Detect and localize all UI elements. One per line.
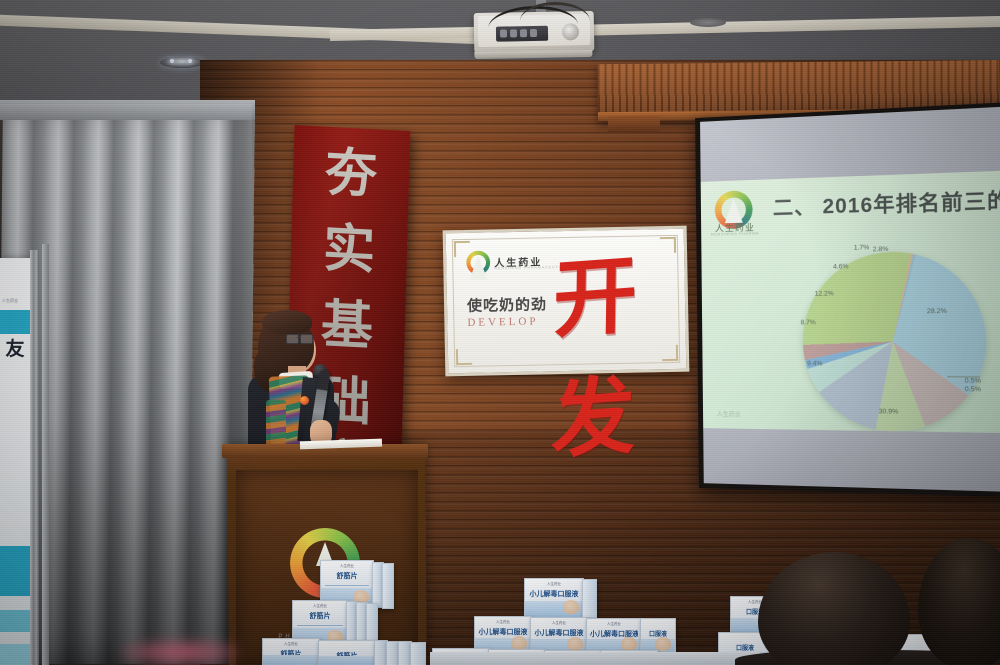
product-box: 人生药业 小儿解毒口服液 <box>524 578 584 618</box>
slide-footer: 人生药业 <box>717 409 741 418</box>
presentation-slide: 人生药业 RENSHENG PHARMA 二、 2016年排名前三的品种明细 1… <box>701 170 1000 433</box>
pie-label-2: 2.8% <box>873 246 889 254</box>
pie-label-6: 9.4% <box>807 360 822 367</box>
pie-label-7: 30.9% <box>879 408 899 416</box>
pie-label-3: 4.6% <box>833 263 849 270</box>
pie-label-9: 0.5% <box>965 377 981 385</box>
product-box: 舒筋片 <box>318 640 376 665</box>
pie-label-10: 0.5% <box>965 386 981 394</box>
pie-chart: 1.7% 2.8% 4.6% 12.2% 8.7% 9.4% 30.9% 28.… <box>787 241 987 443</box>
pie-label-8: 28.2% <box>927 308 947 316</box>
speaker-badge-pin <box>300 396 309 405</box>
ceiling-vent <box>690 18 726 27</box>
screen-bottom-band <box>703 428 1000 492</box>
screen-top-band <box>700 106 1000 182</box>
product-box: 人生药业 舒筋片 <box>262 638 320 665</box>
conference-photo: 人生药业 RENSHENG PHARMA 二、 2016年排名前三的品种明细 1… <box>0 0 1000 665</box>
rollup-banner-tiny-text: 人生药业 <box>2 298 18 304</box>
pie-label-5: 8.7% <box>801 319 816 326</box>
slide-logo-subtext: RENSHENG PHARMA <box>703 230 767 237</box>
sign-calligraphy: 开发 <box>550 231 687 481</box>
pie-label-4: 12.2% <box>815 290 834 297</box>
product-box <box>582 579 597 618</box>
sign-english-word: DEVELOP <box>467 316 538 329</box>
rollup-banner: 友 人生药业 <box>0 258 30 665</box>
rollup-banner-char: 友 <box>0 334 30 361</box>
sign-logo-icon <box>466 250 490 274</box>
projection-screen: 人生药业 RENSHENG PHARMA 二、 2016年排名前三的品种明细 1… <box>695 102 1000 498</box>
pie-label-1: 1.7% <box>854 244 870 252</box>
ceiling-light-icon <box>160 57 204 68</box>
display-table-edge <box>430 652 760 665</box>
rollup-banner-pole-secondary <box>42 244 49 665</box>
foreground-blur <box>120 640 240 665</box>
slide-title: 二、 2016年排名前三的品种明细 <box>773 183 1000 221</box>
rollup-banner-pole <box>30 250 39 665</box>
pie-chart-disc <box>802 250 987 433</box>
valance-bracket <box>608 116 660 133</box>
wall-sign: 人生药业 RENSHENG PHARMACEUTICAL 使吃奶的劲 DEVEL… <box>443 226 690 377</box>
speaker-fringe <box>262 310 312 334</box>
product-box <box>410 642 426 665</box>
product-box <box>382 563 394 609</box>
speaker-glasses-icon <box>286 334 312 343</box>
sign-slogan: 使吃奶的劲 <box>467 293 547 316</box>
